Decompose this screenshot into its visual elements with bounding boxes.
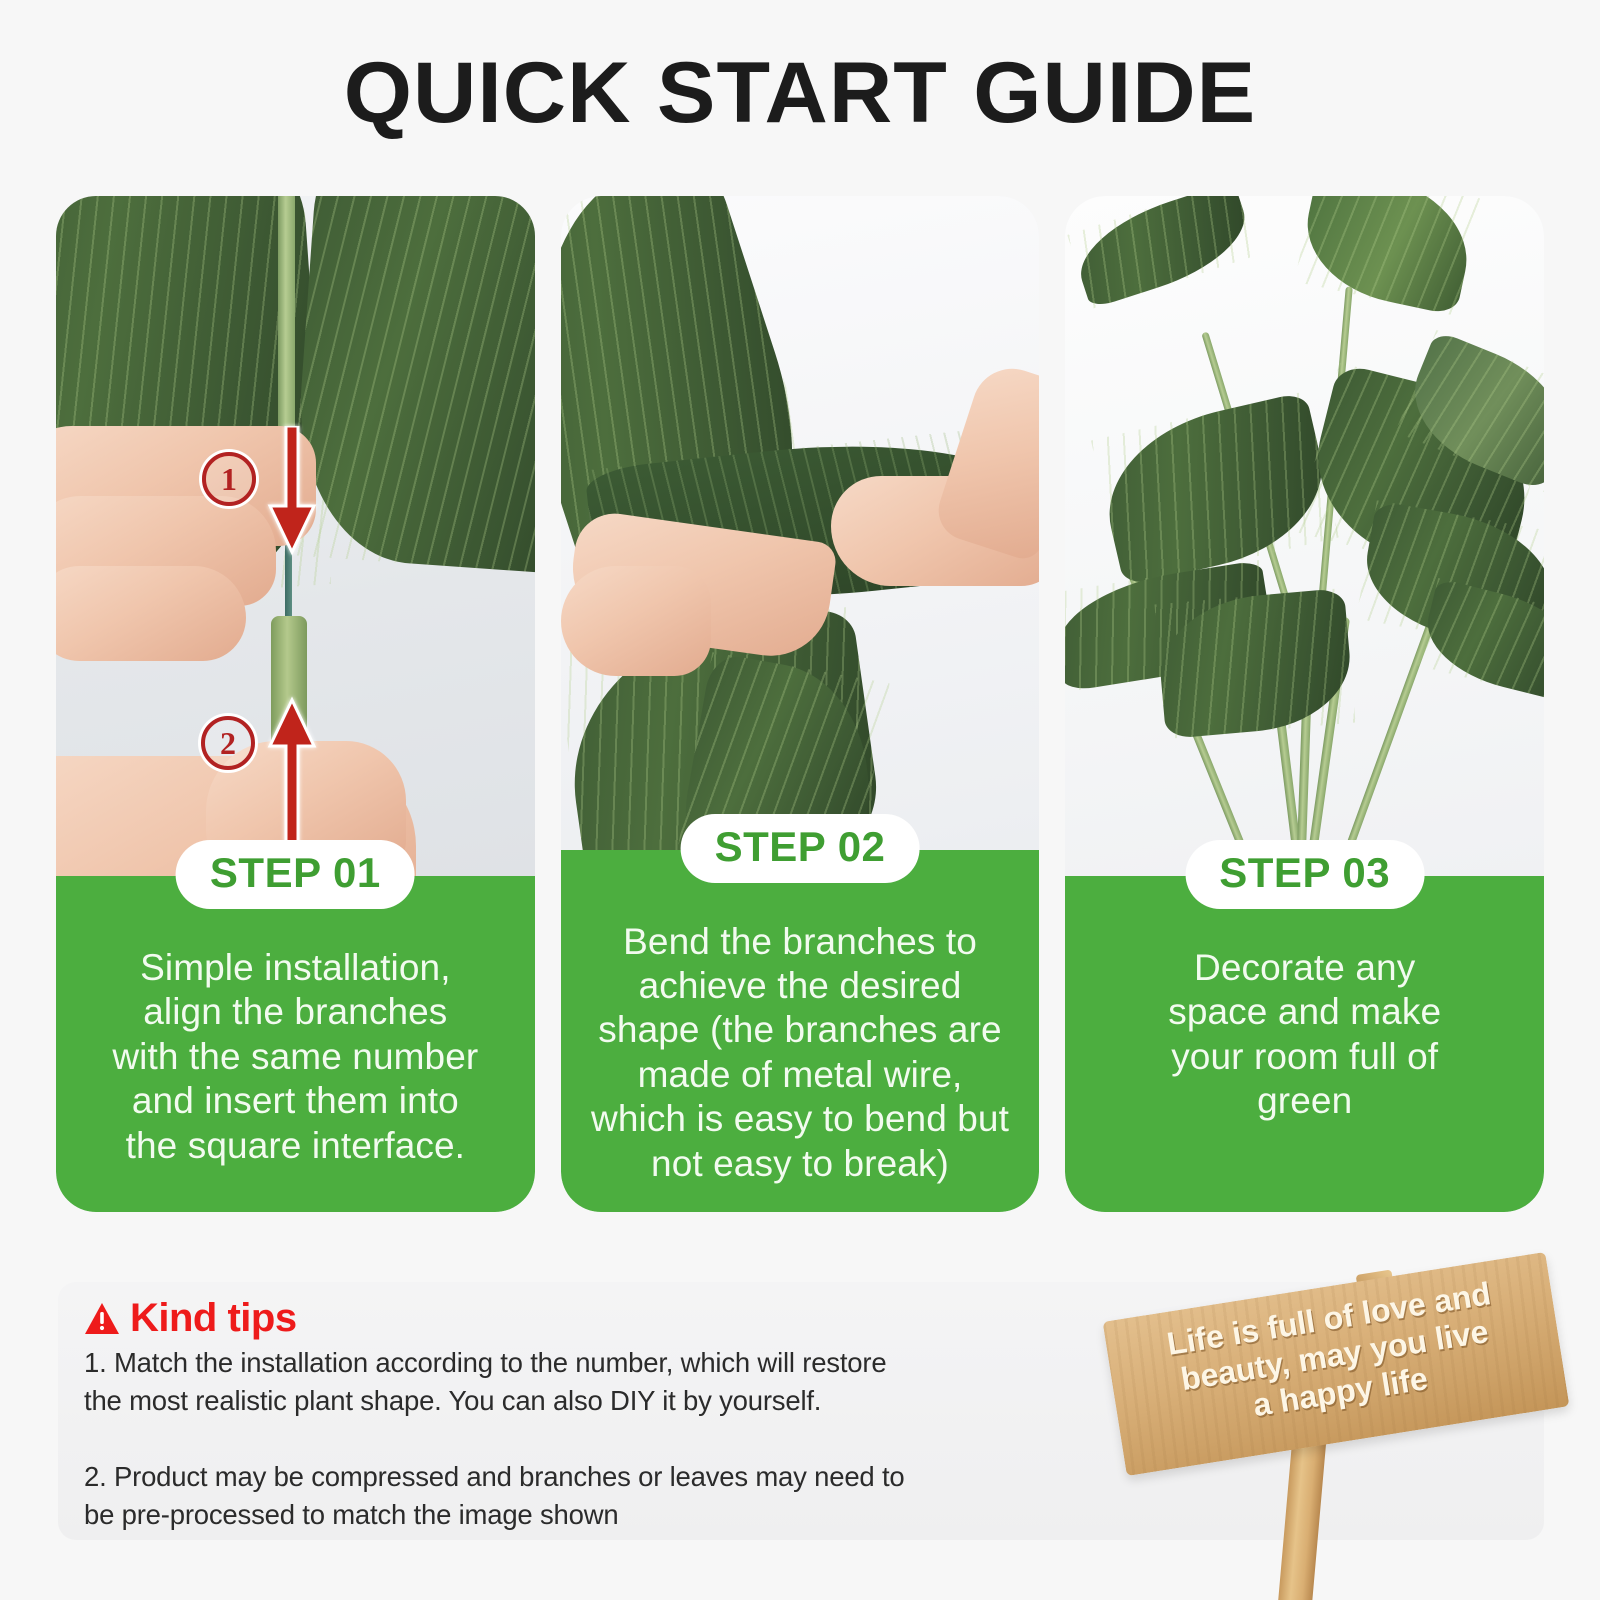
hand-shape xyxy=(56,566,246,661)
wooden-sign: Life is full of love and beauty, may you… xyxy=(1104,1262,1574,1600)
kind-tips-header: Kind tips xyxy=(84,1296,297,1341)
step-2-caption-block: STEP 02 Bend the branches to achieve the… xyxy=(561,850,1040,1212)
leaf-veins xyxy=(1068,196,1259,309)
quick-start-guide-page: QUICK START GUIDE xyxy=(0,0,1600,1600)
steps-row: 1 2 STEP 01 Simple installation, align t… xyxy=(56,196,1544,1212)
leaf-shape xyxy=(1091,391,1339,587)
leaf-shape xyxy=(1295,196,1481,316)
page-title: QUICK START GUIDE xyxy=(0,44,1600,143)
step-3-caption-text: Decorate any space and make your room fu… xyxy=(1083,946,1526,1124)
warning-triangle-icon xyxy=(84,1302,120,1336)
step-1-caption-block: STEP 01 Simple installation, align the b… xyxy=(56,876,535,1212)
step-badge-1: STEP 01 xyxy=(176,840,415,909)
down-arrow-icon xyxy=(262,426,322,556)
step-card-1[interactable]: 1 2 STEP 01 Simple installation, align t… xyxy=(56,196,535,1212)
leaf-shape xyxy=(1068,196,1259,309)
step-card-2[interactable]: STEP 02 Bend the branches to achieve the… xyxy=(561,196,1040,1212)
step-marker-1: 1 xyxy=(202,452,256,506)
step-badge-2: STEP 02 xyxy=(681,814,920,883)
step-2-photo xyxy=(561,196,1040,850)
step-badge-3: STEP 03 xyxy=(1185,840,1424,909)
sign-text: Life is full of love and beauty, may you… xyxy=(1103,1252,1570,1476)
step-2-caption-text: Bend the branches to achieve the desired… xyxy=(579,920,1022,1186)
leaf-veins xyxy=(1295,196,1481,316)
leaf-shape xyxy=(1155,588,1356,739)
leaf-veins xyxy=(1155,588,1356,739)
step-1-caption-text: Simple installation, align the branches … xyxy=(74,946,517,1168)
kind-tips-title: Kind tips xyxy=(130,1296,297,1341)
fist-shape xyxy=(561,566,711,676)
leaf-veins xyxy=(290,196,535,576)
sign-board: Life is full of love and beauty, may you… xyxy=(1103,1252,1570,1476)
leaf-shape xyxy=(290,196,535,576)
step-3-photo xyxy=(1065,196,1544,876)
step-1-photo: 1 2 xyxy=(56,196,535,876)
step-card-3[interactable]: STEP 03 Decorate any space and make your… xyxy=(1065,196,1544,1212)
leaf-veins xyxy=(1091,391,1339,587)
up-arrow-icon xyxy=(262,696,322,846)
kind-tips-body: 1. Match the installation according to t… xyxy=(84,1344,1164,1534)
step-marker-2: 2 xyxy=(201,716,255,770)
step-3-caption-block: STEP 03 Decorate any space and make your… xyxy=(1065,876,1544,1212)
